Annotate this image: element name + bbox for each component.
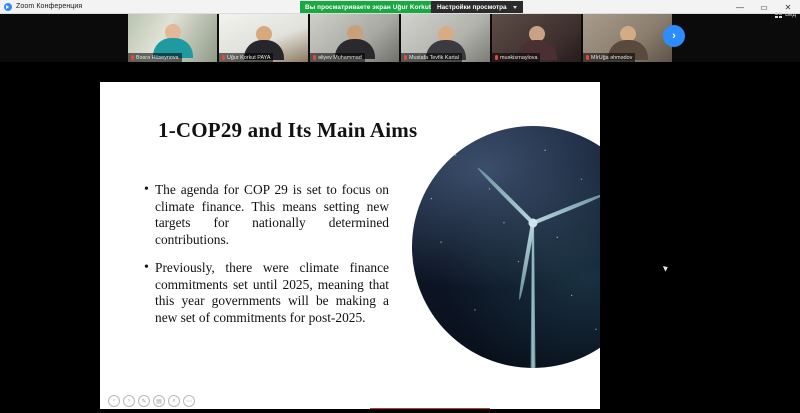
participant-name: MİrUğa əhmədov [591, 55, 632, 61]
participant-name-tag: MİrUğa əhmədov [583, 53, 635, 62]
maximize-button[interactable]: ▭ [752, 0, 776, 14]
participant-name: əliyev Muhammad [318, 55, 362, 61]
next-slide-icon[interactable]: › [123, 395, 135, 407]
participant-tile[interactable]: Uğur Korkut PAYA [219, 14, 308, 62]
slide-title: 1-COP29 and Its Main Aims [158, 118, 417, 143]
mic-muted-icon [404, 55, 407, 60]
view-options-label: Настройки просмотра [437, 4, 507, 11]
chevron-down-icon [513, 6, 517, 9]
presenter-view-icon[interactable]: ▤ [153, 395, 165, 407]
bullet-marker: • [144, 260, 155, 326]
slide-bullet-list: • The agenda for COP 29 is set to focus … [144, 182, 389, 338]
mic-muted-icon [131, 55, 134, 60]
mic-muted-icon [586, 55, 589, 60]
participant-tile[interactable]: Bəsrə Hüseynova [128, 14, 217, 62]
grid-view-icon [775, 12, 782, 18]
screen-share-banner-text: Вы просматриваете экран Uğur Korkut PAYA [305, 4, 449, 11]
pen-icon[interactable]: ✎ [138, 395, 150, 407]
bullet-marker: • [144, 182, 155, 248]
annotation-underline [370, 408, 490, 409]
participant-tile[interactable]: əliyev Muhammad [310, 14, 399, 62]
mic-muted-icon [222, 55, 225, 60]
participant-name: muəkisrnaylova [500, 55, 537, 61]
zoom-icon [4, 3, 12, 11]
view-button-label: Вид [785, 12, 796, 18]
participant-name: Bəsrə Hüseynova [136, 55, 179, 61]
turbine-hub [529, 218, 538, 227]
starfield [412, 126, 600, 368]
minimize-button[interactable]: — [728, 0, 752, 14]
participant-name-tag: Mustafa Tevfik Kartal [401, 53, 462, 62]
previous-slide-icon[interactable]: ‹ [108, 395, 120, 407]
window-title: Zoom Конференция [16, 3, 82, 10]
zoom-in-icon[interactable]: ⌕ [168, 395, 180, 407]
mic-muted-icon [313, 55, 316, 60]
view-options-button[interactable]: Настройки просмотра [431, 1, 523, 13]
participant-name-tag: Bəsrə Hüseynova [128, 53, 182, 62]
slideshow-toolbar: ‹ › ✎ ▤ ⌕ ⋯ [108, 395, 195, 407]
participant-name: Mustafa Tevfik Kartal [409, 55, 459, 61]
chevron-right-icon: › [672, 30, 676, 42]
participant-tile[interactable]: Mustafa Tevfik Kartal [401, 14, 490, 62]
shared-screen-stage: 1-COP29 and Its Main Aims • The agenda f… [0, 62, 800, 413]
mouse-cursor-icon [663, 264, 669, 271]
bullet-item: • Previously, there were climate finance… [144, 260, 389, 326]
bullet-item: • The agenda for COP 29 is set to focus … [144, 182, 389, 248]
presentation-slide: 1-COP29 and Its Main Aims • The agenda f… [100, 82, 600, 409]
bullet-text: Previously, there were climate finance c… [155, 260, 389, 326]
mic-muted-icon [495, 55, 498, 60]
zoom-meeting-window: Zoom Конференция — ▭ ✕ Вы просматриваете… [0, 0, 800, 413]
participant-name-tag: Uğur Korkut PAYA [219, 53, 273, 62]
wind-turbine-night-sky-image [412, 126, 600, 368]
participant-name-tag: əliyev Muhammad [310, 53, 365, 62]
bullet-text: The agenda for COP 29 is set to focus on… [155, 182, 389, 248]
participant-tile[interactable]: MİrUğa əhmədov [583, 14, 672, 62]
participant-name: Uğur Korkut PAYA [227, 55, 270, 61]
next-participants-button[interactable]: › [663, 25, 685, 47]
participant-tile[interactable]: muəkisrnaylova [492, 14, 581, 62]
participant-name-tag: muəkisrnaylova [492, 53, 540, 62]
more-options-icon[interactable]: ⋯ [183, 395, 195, 407]
view-button[interactable]: Вид [775, 12, 796, 18]
